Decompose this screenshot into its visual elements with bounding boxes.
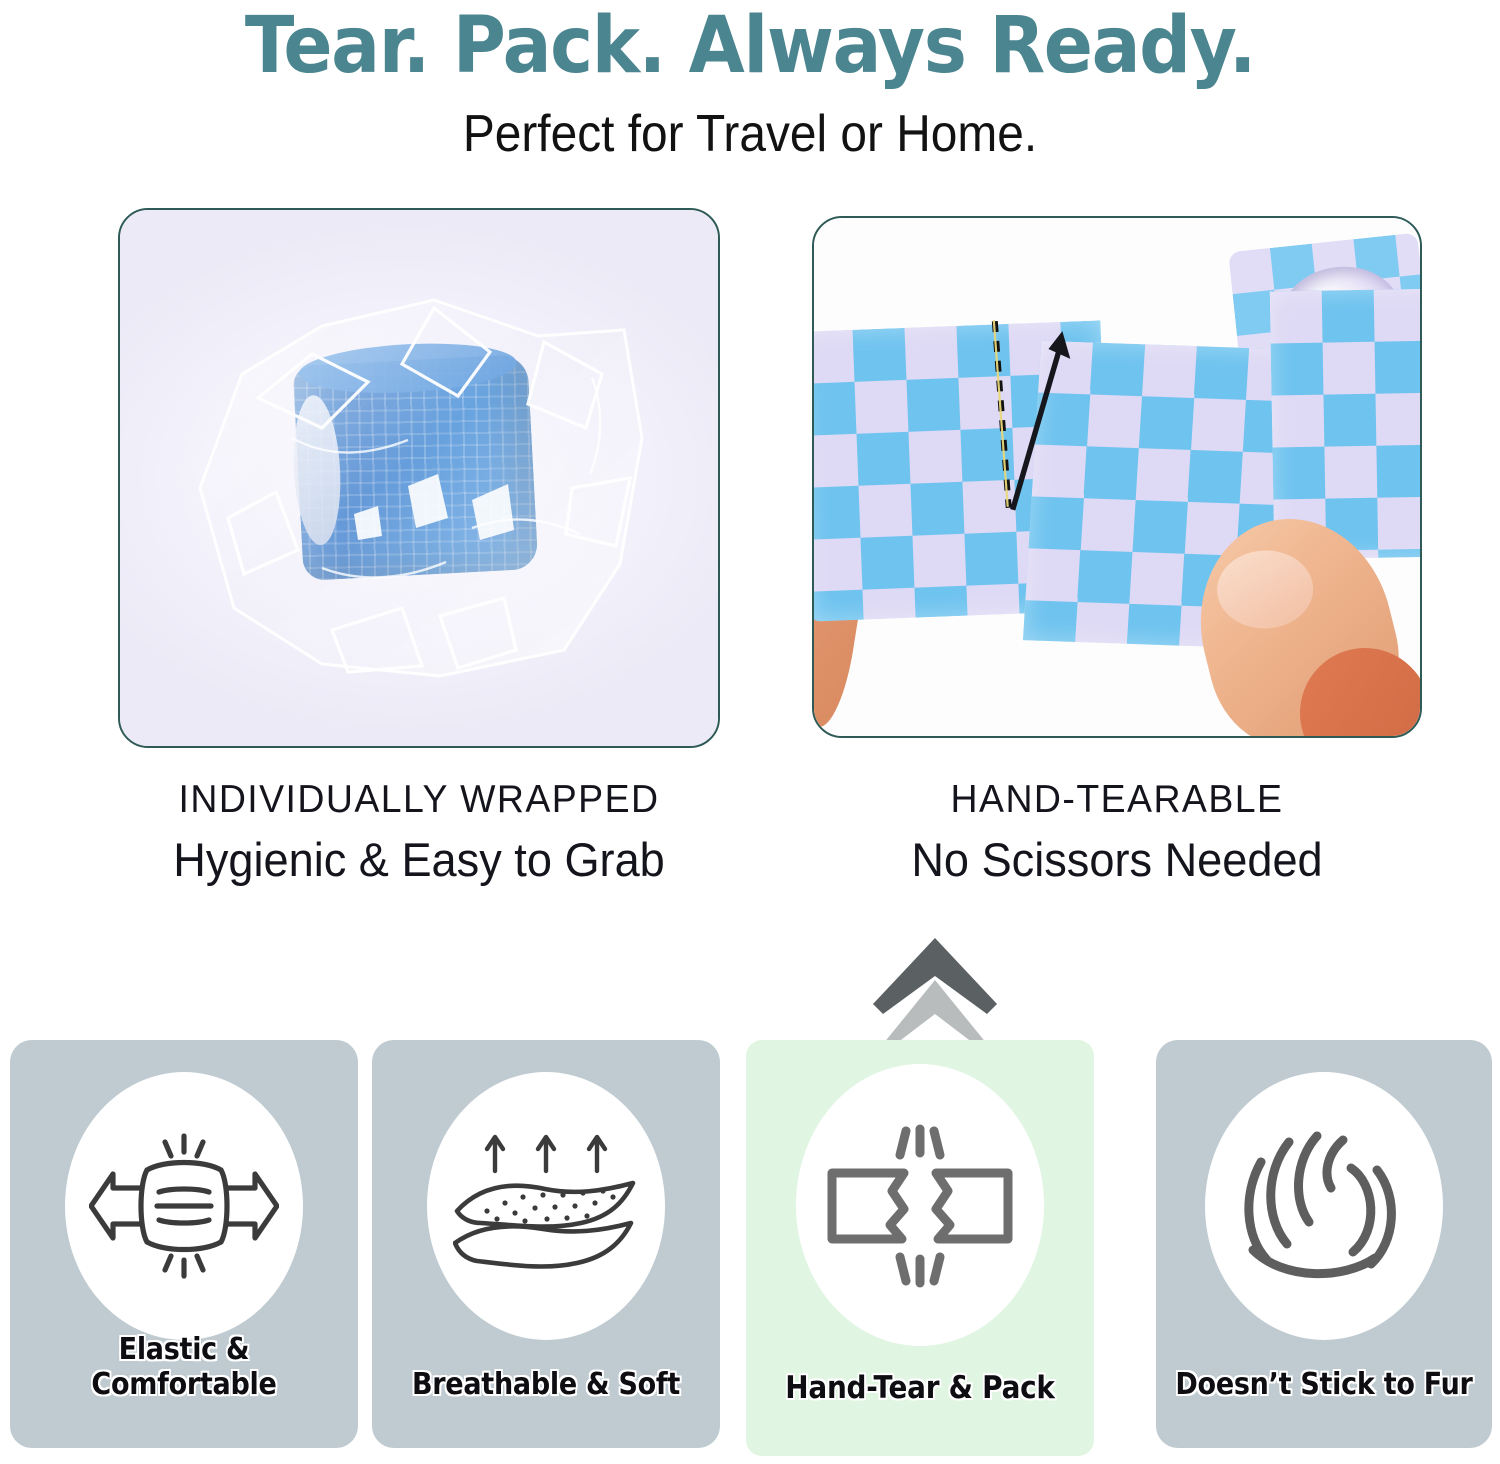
icon-container — [427, 1072, 665, 1340]
icon-container — [65, 1072, 303, 1340]
feature-card-label: Elastic & Comfortable — [27, 1332, 340, 1402]
page-subtitle: Perfect for Travel or Home. — [60, 106, 1440, 163]
caption-subtitle: Hygienic & Easy to Grab — [130, 832, 708, 887]
plastic-wrapper — [172, 278, 672, 698]
feature-card-no-stick-fur[interactable]: Doesn’t Stick to Fur — [1156, 1040, 1492, 1448]
torn-strip-icon — [820, 1121, 1020, 1289]
icon-container — [1205, 1072, 1443, 1340]
tear-direction-arrow — [1013, 331, 1071, 510]
stretch-arrows-icon — [89, 1126, 279, 1286]
feature-card-row: Elastic & Comfortable — [0, 1040, 1500, 1464]
feature-card-label: Breathable & Soft — [389, 1367, 702, 1402]
feature-card-label: Hand-Tear & Pack — [763, 1370, 1076, 1406]
panel-individually-wrapped — [118, 208, 720, 748]
fur-swirl-icon — [1239, 1126, 1409, 1286]
feature-card-label: Doesn’t Stick to Fur — [1173, 1367, 1475, 1402]
feature-card-hand-tear[interactable]: Hand-Tear & Pack — [746, 1040, 1094, 1456]
caption-individually-wrapped: INDIVIDUALLY WRAPPED Hygienic & Easy to … — [118, 778, 720, 887]
panel-hand-tearable — [812, 216, 1422, 738]
feature-card-breathable[interactable]: Breathable & Soft — [372, 1040, 720, 1448]
tear-annotation — [814, 218, 1420, 736]
caption-subtitle: No Scissors Needed — [824, 832, 1410, 887]
double-chevron-up-icon — [869, 934, 1001, 1046]
caption-hand-tearable: HAND-TEARABLE No Scissors Needed — [812, 778, 1422, 887]
photo-panel-row — [0, 208, 1500, 760]
icon-container — [796, 1064, 1044, 1346]
feature-card-elastic[interactable]: Elastic & Comfortable — [10, 1040, 358, 1448]
breathable-layers-icon — [453, 1131, 639, 1281]
caption-title: HAND-TEARABLE — [824, 778, 1410, 822]
page-title: Tear. Pack. Always Ready. — [53, 0, 1448, 88]
caption-title: INDIVIDUALLY WRAPPED — [130, 778, 708, 822]
caption-row: INDIVIDUALLY WRAPPED Hygienic & Easy to … — [0, 778, 1500, 908]
